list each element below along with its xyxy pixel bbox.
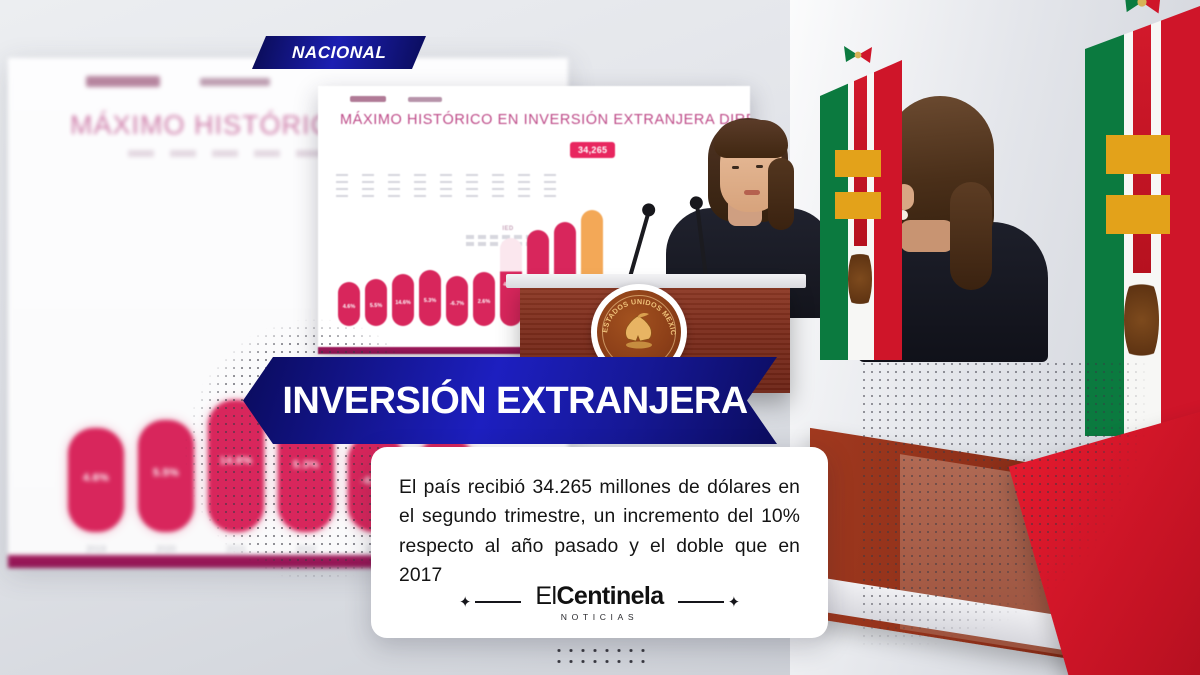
mexican-flag-left (820, 60, 902, 360)
divider-line (678, 601, 724, 603)
sparkle-icon: ✦ (728, 595, 741, 610)
flag-gold-band-lower (835, 192, 881, 219)
slide-highlight-badge: 34,265 (570, 142, 615, 158)
eagle-icon (616, 310, 662, 350)
bar-label: 2.6% (473, 299, 495, 305)
brand-tagline: NOTICIAS (535, 612, 663, 622)
category-badge-label: NACIONAL (291, 43, 386, 63)
bar-category: 2019 (68, 544, 124, 554)
slide-left-logos (86, 76, 270, 87)
bar-category: 2022 (278, 544, 334, 554)
speaker-mouth (744, 190, 760, 195)
speaker-ponytail (768, 158, 794, 230)
bar-label: -6.7% (446, 301, 468, 307)
brand-name-light: El (535, 582, 556, 610)
dot-grid-decoration (553, 645, 645, 665)
bar-label: 14.6% (392, 300, 414, 306)
slide-main-logos (350, 96, 442, 102)
sparkle-icon: ✦ (459, 595, 472, 610)
speaker-eye-right (756, 165, 763, 168)
bar-category: 2020 (138, 544, 194, 554)
bar-label: 5.5% (365, 303, 387, 309)
bar-label: 5.3% (419, 298, 441, 304)
brand-lockup: ✦ ElCentinela NOTICIAS ✦ (371, 582, 828, 622)
story-card: El país recibió 34.265 millones de dólar… (371, 447, 828, 638)
flag-gold-band-upper (835, 150, 881, 177)
secretaria-logo (200, 78, 270, 86)
category-badge[interactable]: NACIONAL (252, 36, 426, 69)
brand-name-bold: Centinela (556, 582, 663, 610)
flag-gold-band-lower (1106, 195, 1170, 234)
flag-bow-icon (838, 44, 878, 66)
story-body-text: El país recibió 34.265 millones de dólar… (399, 473, 800, 590)
bar-label: 4.6% (338, 304, 360, 310)
mexican-flag-right (1085, 6, 1200, 436)
flag-cloth (1085, 6, 1200, 436)
speaker2-ponytail (950, 182, 992, 290)
flag-eagle-emblem (1124, 273, 1159, 368)
divider-line (475, 601, 521, 603)
bar-label: 5.5% (138, 467, 194, 479)
secretaria-logo (408, 97, 442, 102)
podium-top-surface (506, 274, 806, 288)
brand-wordmark: ElCentinela (535, 582, 663, 611)
bar-label: 14.6% (208, 455, 264, 467)
headline-banner: INVERSIÓN EXTRANJERA (243, 357, 777, 444)
speaker-eye-left (732, 166, 739, 169)
bar-label: 5.3% (278, 459, 334, 471)
flag-cloth (820, 60, 902, 360)
flag-bow-icon (1115, 0, 1169, 16)
gobmx-logo (86, 76, 160, 87)
brand-rule-right: ✦ (678, 595, 741, 610)
bar-category: 2021 (208, 544, 264, 554)
headline-text: INVERSIÓN EXTRANJERA (272, 382, 747, 420)
speaker-hair-front (714, 120, 788, 158)
flag-gold-band-upper (1106, 135, 1170, 174)
brand-name: ElCentinela NOTICIAS (535, 582, 663, 622)
gobmx-logo (350, 96, 386, 102)
speaker2-neck (900, 220, 954, 252)
slide-axis-labels (336, 174, 596, 200)
screenshot-stage: MÁXIMO HISTÓRICO 4.6%2019 5.5%2020 14.6%… (0, 0, 1200, 675)
brand-rule-left: ✦ (459, 595, 522, 610)
bar-label: 4.6% (68, 472, 124, 484)
